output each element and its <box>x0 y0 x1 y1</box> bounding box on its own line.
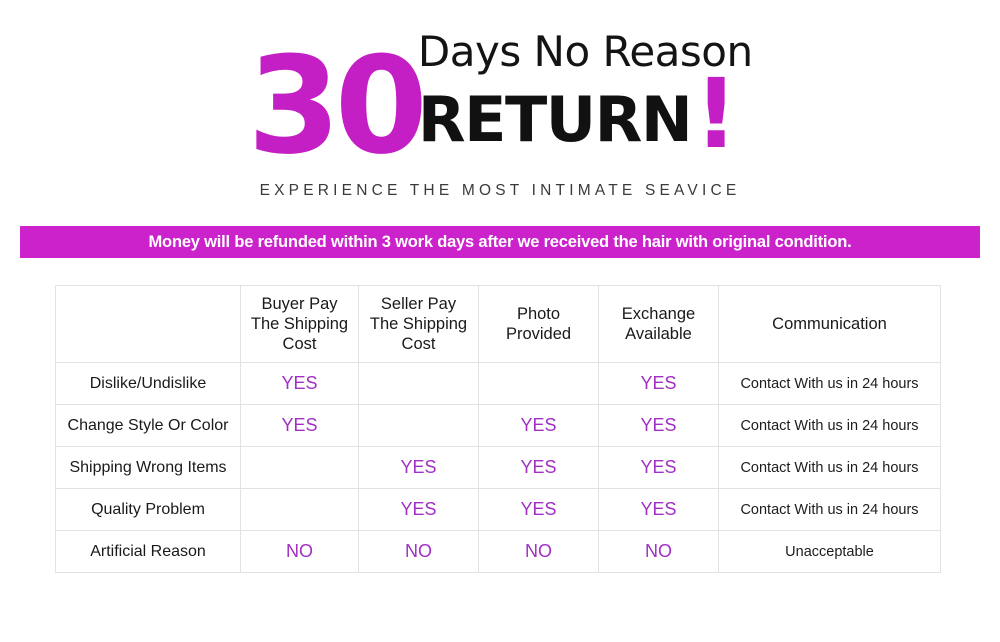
cell-communication: Contact With us in 24 hours <box>719 363 941 405</box>
cell-communication: Contact With us in 24 hours <box>719 447 941 489</box>
cell-seller-pay <box>359 405 479 447</box>
column-header-seller-pay-shipping: Seller Pay The Shipping Cost <box>359 286 479 363</box>
cell-buyer-pay: YES <box>241 363 359 405</box>
column-header-buyer-pay-shipping: Buyer Pay The Shipping Cost <box>241 286 359 363</box>
cell-seller-pay: YES <box>359 447 479 489</box>
table-header: Buyer Pay The Shipping Cost Seller Pay T… <box>56 286 941 363</box>
table-body: Dislike/Undislike YES YES Contact With u… <box>56 363 941 573</box>
cell-buyer-pay: NO <box>241 531 359 573</box>
column-header-line: The Shipping <box>359 314 478 334</box>
return-policy-table: Buyer Pay The Shipping Cost Seller Pay T… <box>55 285 941 573</box>
column-header-line: Seller Pay <box>359 294 478 314</box>
column-header-line: Cost <box>241 334 358 354</box>
hero-return-line: RETURN ! <box>418 76 738 152</box>
hero-number-30: 30 <box>247 40 421 172</box>
cell-photo-provided: NO <box>479 531 599 573</box>
cell-exchange-available: NO <box>599 531 719 573</box>
table-header-row: Buyer Pay The Shipping Cost Seller Pay T… <box>56 286 941 363</box>
row-label: Artificial Reason <box>56 531 241 573</box>
cell-buyer-pay <box>241 489 359 531</box>
hero-logo: 30 Days No Reason RETURN ! <box>190 26 810 166</box>
cell-exchange-available: YES <box>599 447 719 489</box>
return-policy-header: 30 Days No Reason RETURN ! EXPERIENCE TH… <box>0 0 1000 200</box>
hero-title-return: RETURN <box>418 88 691 152</box>
column-header-line: Cost <box>359 334 478 354</box>
column-header-line: Provided <box>479 324 598 344</box>
column-header-communication: Communication <box>719 286 941 363</box>
return-policy-table-container: Buyer Pay The Shipping Cost Seller Pay T… <box>0 285 1000 573</box>
table-row: Dislike/Undislike YES YES Contact With u… <box>56 363 941 405</box>
cell-communication: Unacceptable <box>719 531 941 573</box>
cell-communication: Contact With us in 24 hours <box>719 489 941 531</box>
column-header-line: Photo <box>479 304 598 324</box>
cell-seller-pay: NO <box>359 531 479 573</box>
cell-exchange-available: YES <box>599 363 719 405</box>
cell-photo-provided: YES <box>479 447 599 489</box>
column-header-exchange-available: Exchange Available <box>599 286 719 363</box>
cell-communication: Contact With us in 24 hours <box>719 405 941 447</box>
table-row: Quality Problem YES YES YES Contact With… <box>56 489 941 531</box>
cell-seller-pay: YES <box>359 489 479 531</box>
row-label: Quality Problem <box>56 489 241 531</box>
column-header-line: Exchange <box>599 304 718 324</box>
hero-exclamation-mark: ! <box>694 82 738 146</box>
column-header-line: The Shipping <box>241 314 358 334</box>
cell-photo-provided: YES <box>479 405 599 447</box>
row-label: Change Style Or Color <box>56 405 241 447</box>
cell-buyer-pay <box>241 447 359 489</box>
column-header-line: Communication <box>719 314 940 334</box>
cell-seller-pay <box>359 363 479 405</box>
refund-banner-text: Money will be refunded within 3 work day… <box>149 233 852 252</box>
cell-exchange-available: YES <box>599 405 719 447</box>
hero-text-block: Days No Reason RETURN ! <box>418 30 753 152</box>
refund-banner-container: Money will be refunded within 3 work day… <box>0 226 1000 258</box>
cell-photo-provided: YES <box>479 489 599 531</box>
column-header-photo-provided: Photo Provided <box>479 286 599 363</box>
table-row: Artificial Reason NO NO NO NO Unacceptab… <box>56 531 941 573</box>
column-header-line: Available <box>599 324 718 344</box>
table-row: Shipping Wrong Items YES YES YES Contact… <box>56 447 941 489</box>
table-row: Change Style Or Color YES YES YES Contac… <box>56 405 941 447</box>
hero-tagline: EXPERIENCE THE MOST INTIMATE SEAVICE <box>260 182 741 200</box>
row-label: Shipping Wrong Items <box>56 447 241 489</box>
cell-exchange-available: YES <box>599 489 719 531</box>
column-header-reason <box>56 286 241 363</box>
column-header-line: Buyer Pay <box>241 294 358 314</box>
cell-buyer-pay: YES <box>241 405 359 447</box>
refund-banner: Money will be refunded within 3 work day… <box>20 226 980 258</box>
row-label: Dislike/Undislike <box>56 363 241 405</box>
cell-photo-provided <box>479 363 599 405</box>
